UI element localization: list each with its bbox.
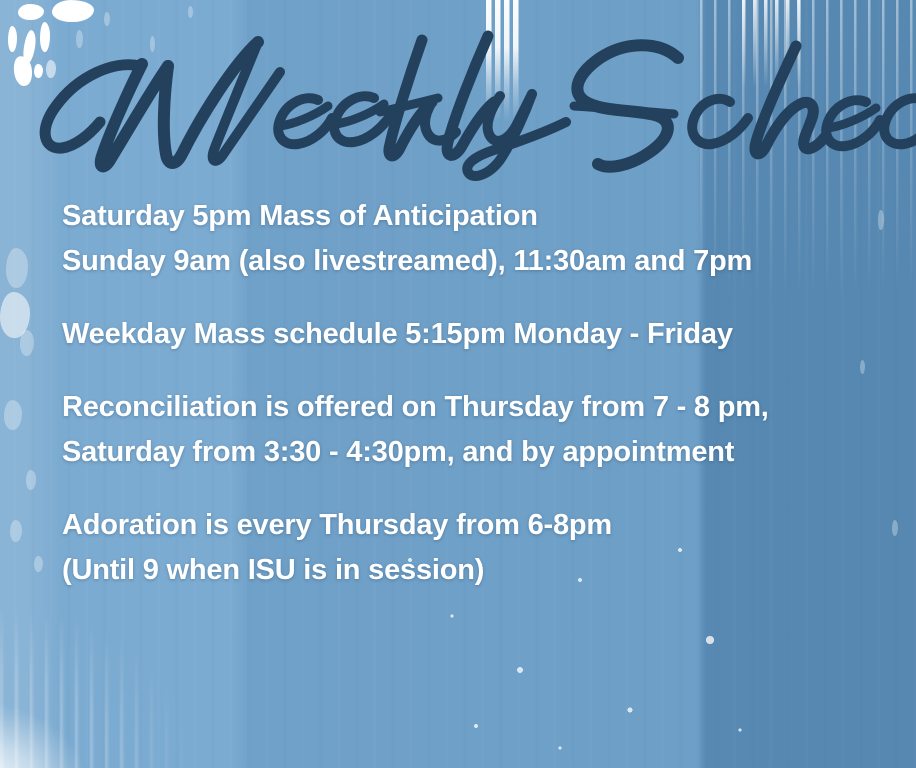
schedule-text: Saturday 5pm Mass of Anticipation Sunday… — [62, 194, 902, 593]
weekly-schedule-poster: Weekly Schedule — [0, 0, 916, 768]
paint-fleck — [26, 470, 36, 490]
schedule-line: Reconciliation is offered on Thursday fr… — [62, 385, 902, 430]
schedule-line: Saturday 5pm Mass of Anticipation — [62, 194, 902, 239]
paint-fleck — [8, 26, 17, 52]
schedule-line: Saturday from 3:30 - 4:30pm, and by appo… — [62, 430, 902, 475]
schedule-block-weekend-mass: Saturday 5pm Mass of Anticipation Sunday… — [62, 194, 902, 284]
paint-fleck — [20, 330, 34, 356]
paint-fleck — [10, 520, 22, 542]
paint-fleck — [6, 248, 28, 288]
page-title: Weekly Schedule — [18, 14, 898, 180]
script-title-strokes — [45, 36, 880, 176]
schedule-block-weekday-mass: Weekday Mass schedule 5:15pm Monday - Fr… — [62, 312, 902, 357]
paint-fleck — [4, 400, 22, 430]
schedule-line: Weekday Mass schedule 5:15pm Monday - Fr… — [62, 312, 902, 357]
schedule-line: Adoration is every Thursday from 6-8pm — [62, 503, 902, 548]
schedule-line: (Until 9 when ISU is in session) — [62, 548, 902, 593]
schedule-block-adoration: Adoration is every Thursday from 6-8pm (… — [62, 503, 902, 593]
schedule-block-reconciliation: Reconciliation is offered on Thursday fr… — [62, 385, 902, 475]
schedule-line: Sunday 9am (also livestreamed), 11:30am … — [62, 239, 902, 284]
